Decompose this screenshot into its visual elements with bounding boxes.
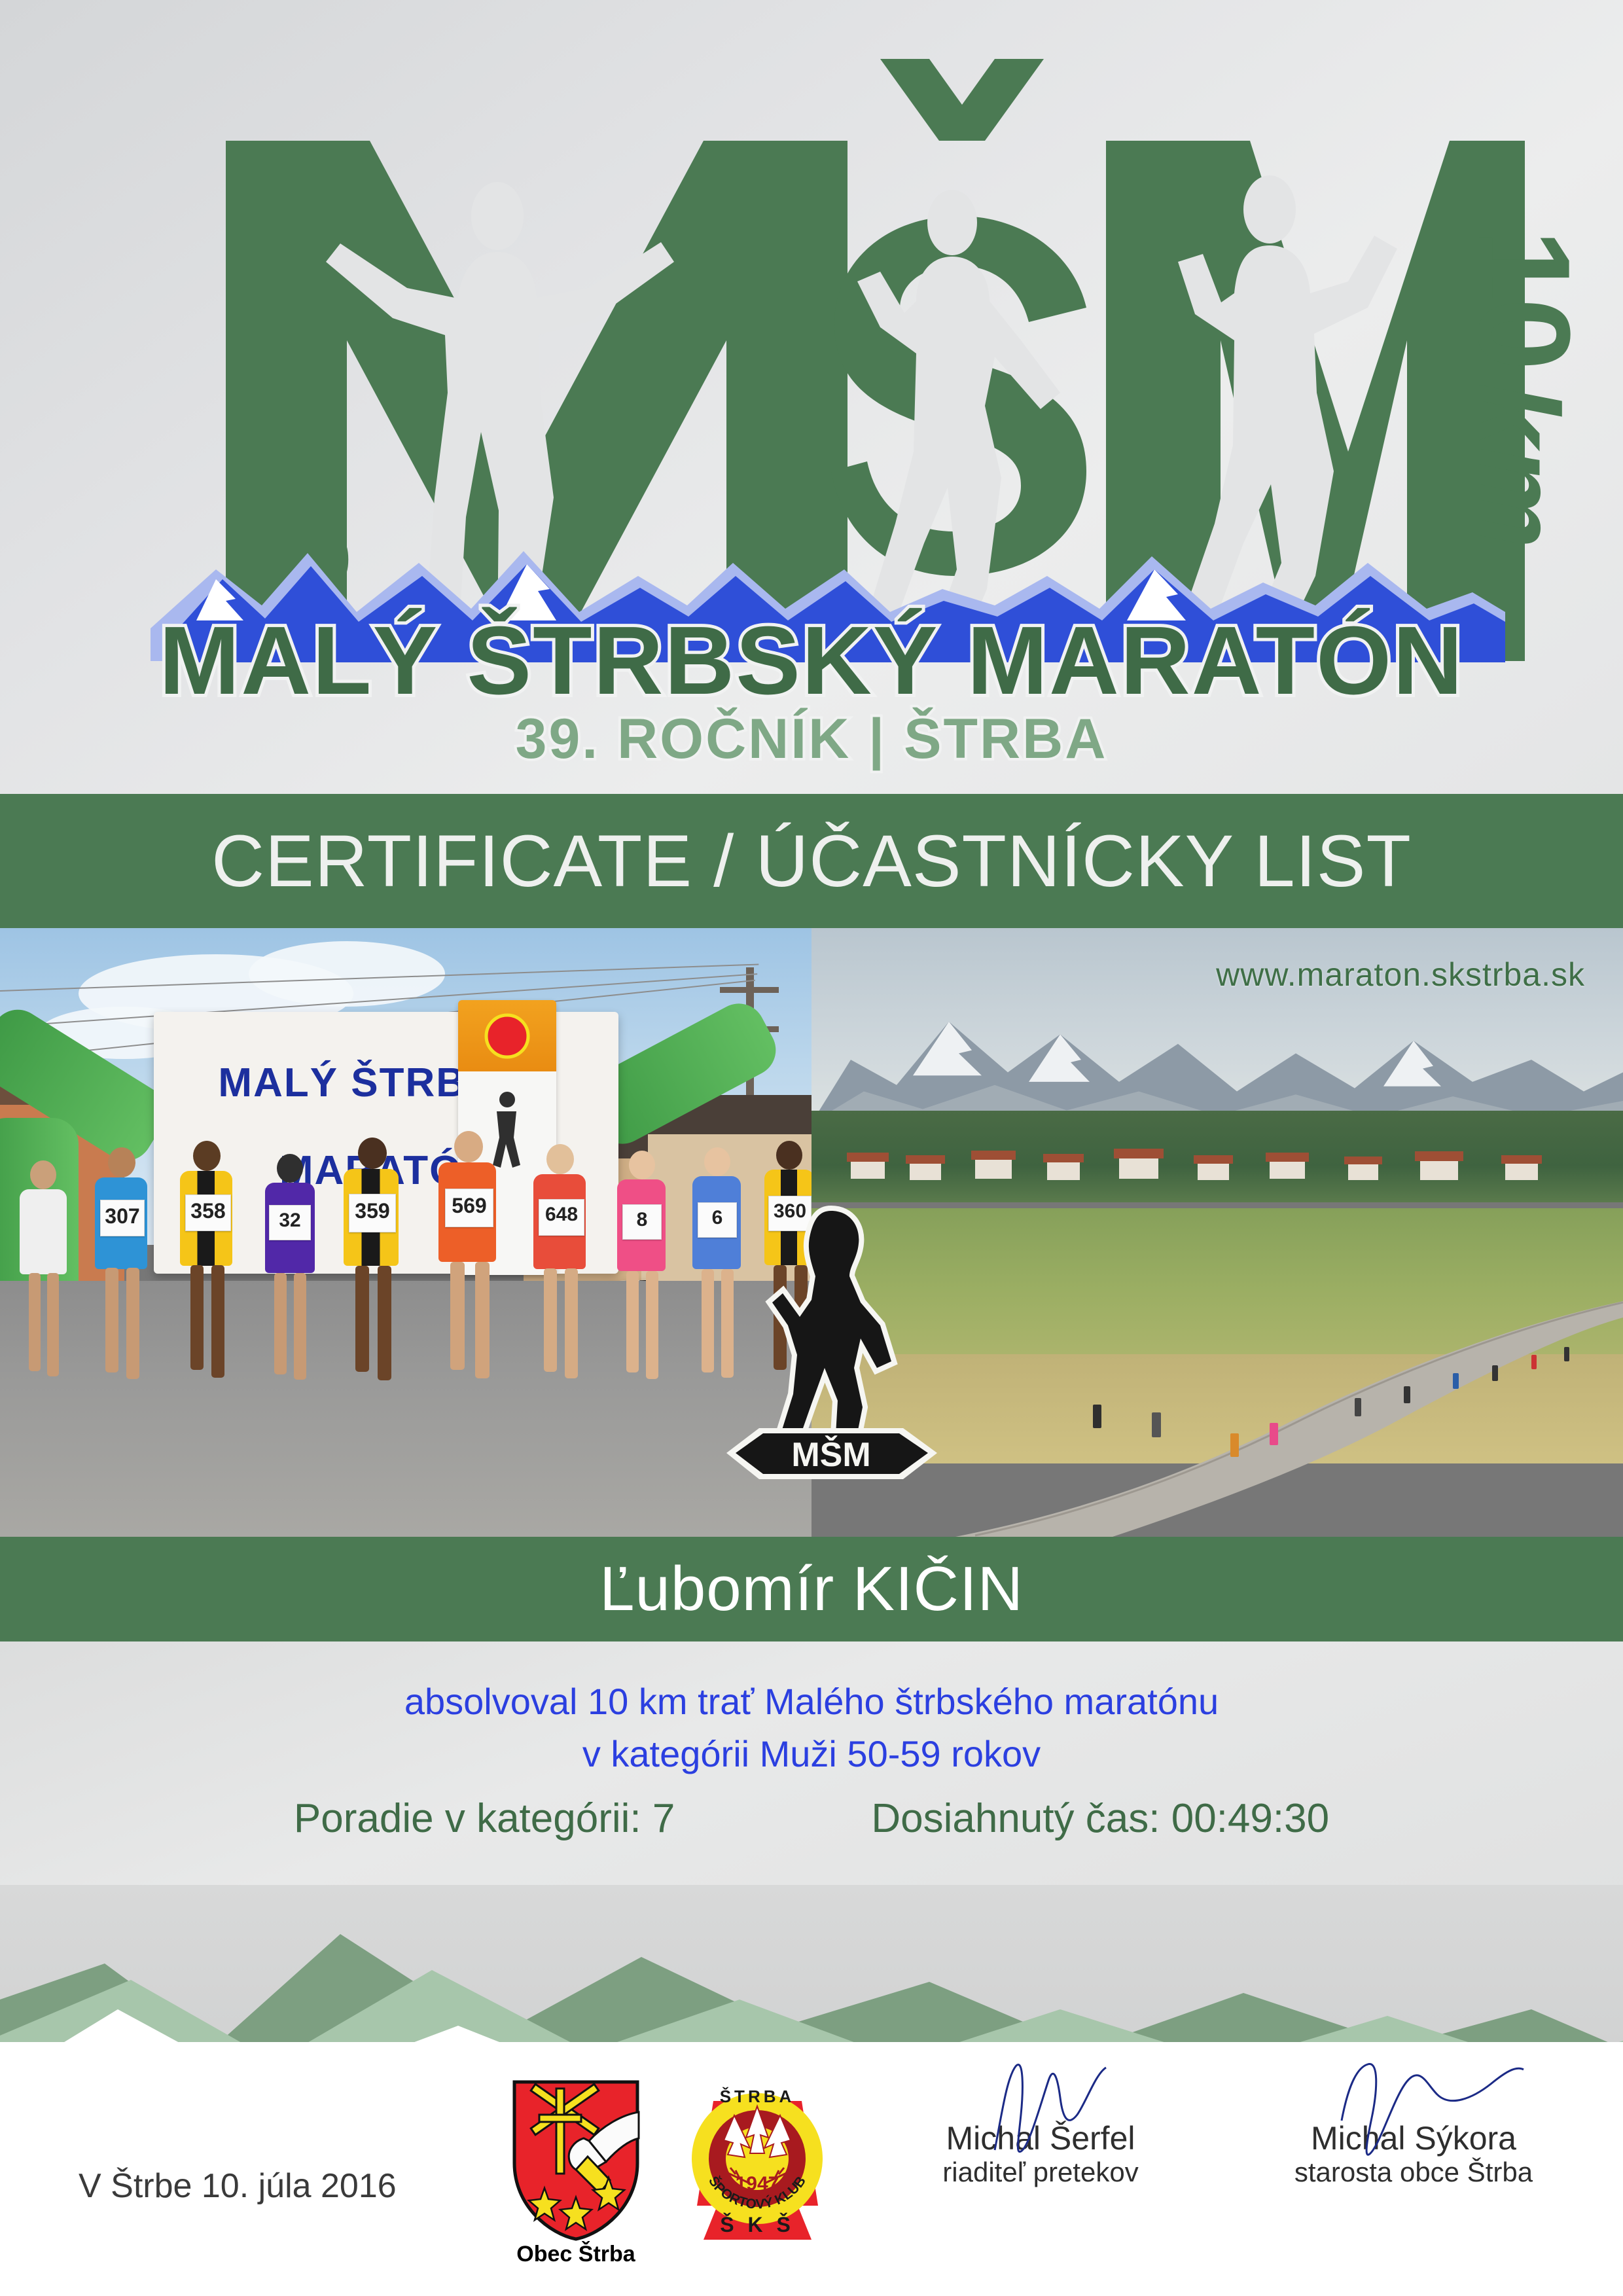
distant-runner <box>1564 1347 1569 1361</box>
logo-subtitle-text: 39. ROČNÍK | ŠTRBA <box>0 707 1623 772</box>
distant-runner <box>1453 1373 1459 1389</box>
director-role: riaditeľ pretekov <box>857 2157 1224 2188</box>
participant-name-band: Ľubomír KIČIN <box>0 1537 1623 1641</box>
runner-figure: 8 <box>605 1151 677 1403</box>
issue-date: V Štrbe 10. júla 2016 <box>79 2166 397 2206</box>
club-abbrev: Š K Š <box>720 2213 794 2236</box>
distant-runner <box>1492 1365 1498 1381</box>
spectator <box>1152 1412 1161 1437</box>
distance-10km-badge: 10 km <box>1451 229 1597 548</box>
certificate-heading-band: CERTIFICATE / ÚČASTNÍCKY LIST <box>0 794 1623 928</box>
certificate-heading: CERTIFICATE / ÚČASTNÍCKY LIST <box>211 819 1412 903</box>
runner-figure <box>7 1160 79 1403</box>
certificate-page: 31 km <box>0 0 1623 2296</box>
logo-subtitle: 39. ROČNÍK | ŠTRBA <box>0 707 1623 772</box>
bib-number: 32 <box>269 1205 311 1240</box>
msm-badge-label: MŠM <box>791 1435 870 1474</box>
bib-number: 307 <box>100 1200 145 1236</box>
description-line-2: v kategórii Muži 50-59 rokov <box>0 1728 1623 1780</box>
bib-number: 569 <box>445 1189 493 1227</box>
category-rank-value: 7 <box>652 1796 675 1841</box>
description-line-1: absolvoval 10 km trať Malého štrbského m… <box>0 1676 1623 1728</box>
mayor-name: Michal Sýkora <box>1230 2121 1597 2157</box>
distant-runner <box>1404 1386 1410 1403</box>
results-row: Poradie v kategórii: 7 Dosiahnutý čas: 0… <box>0 1795 1623 1842</box>
sks-strba-club-logo: 1947 ŠTRBA Š K Š ŠPORTOVÝ KLUB <box>687 2075 828 2245</box>
signature-block-mayor: Michal Sýkora starosta obce Štrba <box>1230 2121 1597 2188</box>
bib-number: 358 <box>185 1194 231 1231</box>
category-rank-label: Poradie v kategórii: <box>294 1796 641 1841</box>
spectator <box>1093 1405 1101 1428</box>
category-rank: Poradie v kategórii: 7 <box>294 1795 675 1842</box>
runner-figure: 358 <box>167 1141 245 1403</box>
runner-figure: 32 <box>252 1154 327 1403</box>
runner-figure: 569 <box>425 1131 510 1403</box>
finish-time: Dosiahnutý čas: 00:49:30 <box>871 1795 1329 1842</box>
pole-crossbar <box>720 987 779 993</box>
header-logo-area: 31 km <box>0 0 1623 794</box>
finish-time-value: 00:49:30 <box>1171 1796 1329 1841</box>
distant-runner <box>1355 1398 1361 1416</box>
svg-text:km: km <box>1454 383 1582 548</box>
distant-runner <box>1531 1355 1537 1369</box>
club-year: 1947 <box>736 2173 779 2195</box>
msm-logo: 31 km <box>0 0 1623 794</box>
bib-number: 359 <box>349 1194 396 1232</box>
distant-runner <box>1230 1433 1239 1457</box>
signature-block-director: Michal Šerfel riaditeľ pretekov <box>857 2121 1224 2188</box>
logo-title: MALÝ ŠTRBSKÝ MARATÓN <box>0 605 1623 717</box>
achievement-description: absolvoval 10 km trať Malého štrbského m… <box>0 1676 1623 1780</box>
bib-number: 8 <box>622 1204 662 1240</box>
runner-crowd: 307 358 32 <box>0 1123 811 1403</box>
runner-figure: 307 <box>82 1147 160 1403</box>
participant-name: Ľubomír KIČIN <box>599 1553 1024 1625</box>
finish-time-label: Dosiahnutý čas: <box>871 1796 1160 1841</box>
website-url[interactable]: www.maraton.skstrba.sk <box>1216 956 1585 994</box>
logo-title-text: MALÝ ŠTRBSKÝ MARATÓN <box>0 605 1623 717</box>
distant-runner <box>1270 1423 1278 1445</box>
start-line-photo: MALÝ ŠTRBSKÝ MARATÓN ŠTART - CIEĽ <box>0 928 811 1537</box>
footer: V Štrbe 10. júla 2016 <box>0 2042 1623 2296</box>
obec-strba-coat-of-arms <box>510 2078 641 2242</box>
director-name: Michal Šerfel <box>857 2121 1224 2157</box>
result-details: absolvoval 10 km trať Malého štrbského m… <box>0 1641 1623 1903</box>
svg-text:10: 10 <box>1451 229 1597 367</box>
runner-figure: 359 <box>330 1138 412 1403</box>
mayor-role: starosta obce Štrba <box>1230 2157 1597 2188</box>
runner-figure: 648 <box>520 1144 599 1403</box>
msm-runner-badge: MŠM <box>720 1172 942 1512</box>
club-top-text: ŠTRBA <box>720 2087 795 2106</box>
bib-number: 648 <box>539 1199 584 1236</box>
obec-strba-label: Obec Štrba <box>510 2242 641 2267</box>
